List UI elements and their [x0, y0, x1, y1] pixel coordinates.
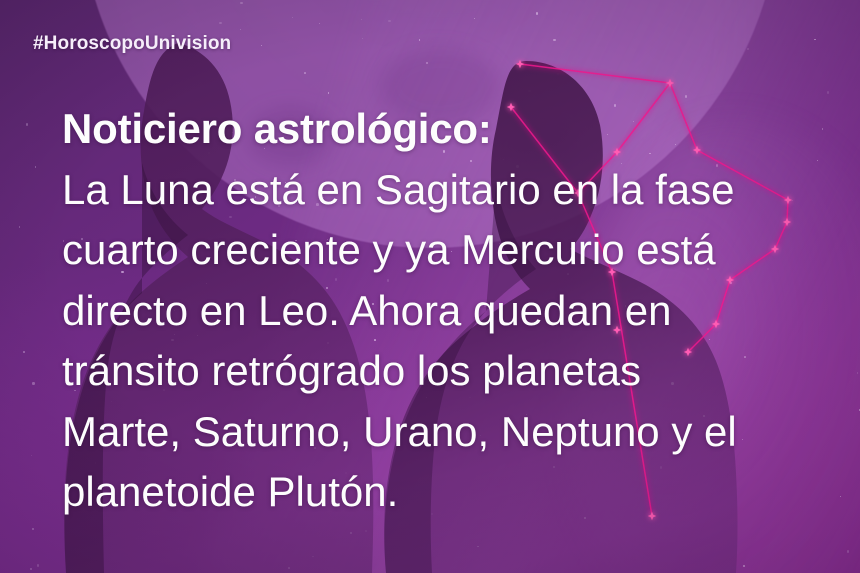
horoscope-copy: Noticiero astrológico: La Luna está en S…: [62, 99, 842, 523]
body-line: cuarto creciente y ya Mercurio está: [62, 220, 842, 281]
body-line: Marte, Saturno, Urano, Neptuno y el: [62, 402, 842, 463]
body-line: La Luna está en Sagitario en la fase: [62, 160, 842, 221]
body-line: directo en Leo. Ahora quedan en: [62, 281, 842, 342]
hashtag-label: #HoroscopoUnivision: [33, 33, 231, 55]
body-line: tránsito retrógrado los planetas: [62, 341, 842, 402]
horoscope-card: #HoroscopoUnivision Noticiero astrológic…: [0, 0, 860, 573]
body-line: planetoide Plutón.: [62, 462, 842, 523]
headline-text: Noticiero astrológico:: [62, 99, 842, 160]
